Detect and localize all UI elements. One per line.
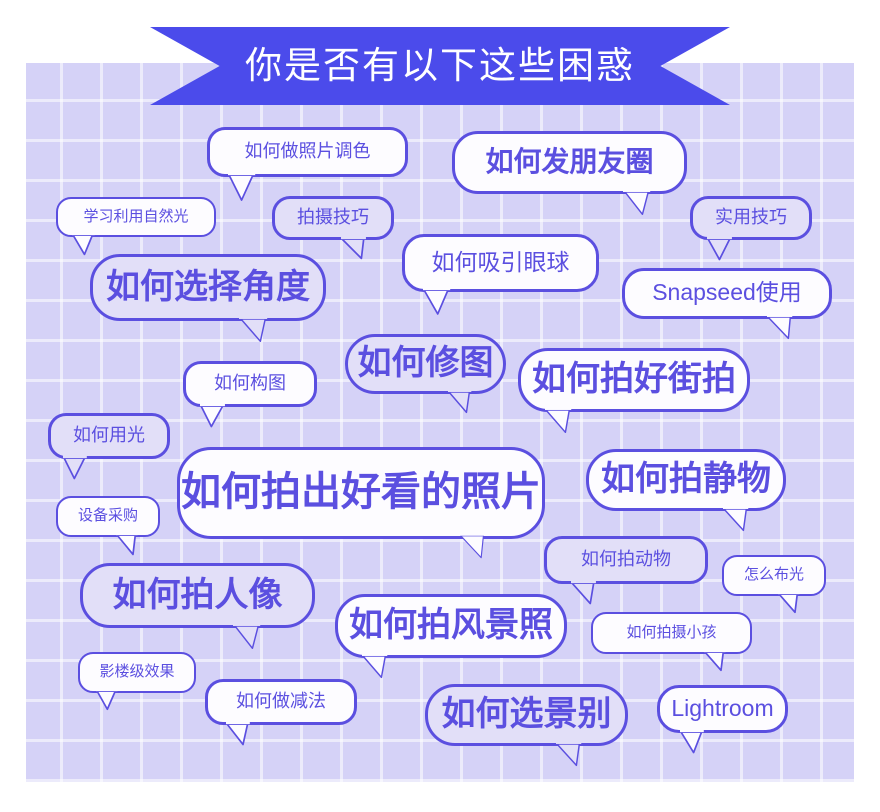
bubble-tail xyxy=(96,690,130,724)
bubble-tail xyxy=(341,238,375,272)
bubble-choose-shot-size[interactable]: 如何选景别 xyxy=(425,684,628,746)
bubble-beautiful-photos[interactable]: 如何拍出好看的照片 xyxy=(177,447,545,539)
banner-title: 你是否有以下这些困惑 xyxy=(245,47,635,86)
bubble-label: 如何发朋友圈 xyxy=(485,148,653,178)
bubble-lighting-setup[interactable]: 怎么布光 xyxy=(722,555,826,596)
bubble-tail xyxy=(239,318,273,352)
bubble-tail xyxy=(680,731,714,765)
bubble-tail xyxy=(723,508,757,542)
banner: 你是否有以下这些困惑 xyxy=(150,27,730,105)
bubble-tail xyxy=(200,405,234,439)
bubble-choose-angle[interactable]: 如何选择角度 xyxy=(90,254,326,321)
bubble-label: 怎么布光 xyxy=(744,567,804,584)
bubble-tail xyxy=(63,457,97,491)
bubble-label: 如何拍动物 xyxy=(581,550,671,570)
bubble-animal-photography[interactable]: 如何拍动物 xyxy=(544,536,708,584)
bubble-label: 影楼级效果 xyxy=(99,664,174,681)
bubble-label: 学习利用自然光 xyxy=(83,209,188,226)
bubble-tail xyxy=(448,391,482,425)
bubble-retouching[interactable]: 如何修图 xyxy=(345,334,506,394)
bubble-use-natural-light[interactable]: 学习利用自然光 xyxy=(56,197,216,237)
bubble-label: Snapseed使用 xyxy=(652,281,802,306)
bubble-label: 如何拍静物 xyxy=(601,462,771,498)
bubble-studio-grade-result[interactable]: 影楼级效果 xyxy=(78,652,196,693)
bubble-tail xyxy=(623,191,657,225)
bubble-label: 如何构图 xyxy=(214,374,286,394)
bubble-label: 如何选择角度 xyxy=(106,270,310,306)
bubble-label: 如何用光 xyxy=(73,426,145,446)
bubble-street-photography[interactable]: 如何拍好街拍 xyxy=(518,348,750,412)
bubble-label: 如何拍摄小孩 xyxy=(626,625,716,642)
bubble-label: 如何修图 xyxy=(358,346,494,382)
bubble-tail xyxy=(556,743,590,777)
bubble-label: 如何选景别 xyxy=(442,697,612,733)
bubble-tail xyxy=(704,651,738,685)
bubble-label: 如何做照片调色 xyxy=(245,142,371,162)
bubble-tail xyxy=(226,723,260,757)
bubble-tail xyxy=(233,625,267,659)
bubble-label: 拍摄技巧 xyxy=(297,208,369,228)
bubble-photo-color-grading[interactable]: 如何做照片调色 xyxy=(207,127,408,177)
poster-canvas: 你是否有以下这些困惑 如何做照片调色 如何发朋友圈 学习利用自然光 拍摄技巧 xyxy=(0,0,880,812)
bubble-snapseed-usage[interactable]: Snapseed使用 xyxy=(622,268,832,319)
bubble-composition[interactable]: 如何构图 xyxy=(183,361,317,407)
bubble-shooting-skills[interactable]: 拍摄技巧 xyxy=(272,196,394,240)
bubble-tail xyxy=(460,535,494,569)
bubble-label: 如何吸引眼球 xyxy=(432,251,570,276)
bubble-label: 如何做减法 xyxy=(236,692,326,712)
bubble-label: 如何拍出好看的照片 xyxy=(181,472,541,514)
bubble-tail xyxy=(707,238,741,272)
bubble-label: 如何拍风景照 xyxy=(349,608,553,644)
bubble-label: Lightroom xyxy=(671,697,773,722)
bubble-post-to-moments[interactable]: 如何发朋友圈 xyxy=(452,131,687,194)
bubble-lightroom[interactable]: Lightroom xyxy=(657,685,788,733)
bubble-catch-the-eye[interactable]: 如何吸引眼球 xyxy=(402,234,599,292)
bubble-label: 设备采购 xyxy=(78,508,138,525)
bubble-practical-skills[interactable]: 实用技巧 xyxy=(690,196,812,240)
bubble-tail xyxy=(362,655,396,689)
bubble-still-life[interactable]: 如何拍静物 xyxy=(586,449,786,511)
bubble-label: 实用技巧 xyxy=(715,208,787,228)
bubble-tail xyxy=(571,582,605,616)
bubble-tail xyxy=(778,593,812,627)
bubble-equipment-buying[interactable]: 设备采购 xyxy=(56,496,160,537)
bubble-landscape[interactable]: 如何拍风景照 xyxy=(335,594,567,658)
bubble-tail xyxy=(228,174,262,208)
bubble-portrait[interactable]: 如何拍人像 xyxy=(80,563,315,628)
bubble-kids-photography[interactable]: 如何拍摄小孩 xyxy=(591,612,752,654)
bubble-tail xyxy=(423,289,457,323)
bubble-label: 如何拍人像 xyxy=(113,578,283,614)
bubble-subtraction[interactable]: 如何做减法 xyxy=(205,679,357,725)
bubble-how-to-use-light[interactable]: 如何用光 xyxy=(48,413,170,459)
bubble-tail xyxy=(545,409,579,443)
bubble-label: 如何拍好街拍 xyxy=(532,362,736,398)
bubble-tail xyxy=(767,316,801,350)
